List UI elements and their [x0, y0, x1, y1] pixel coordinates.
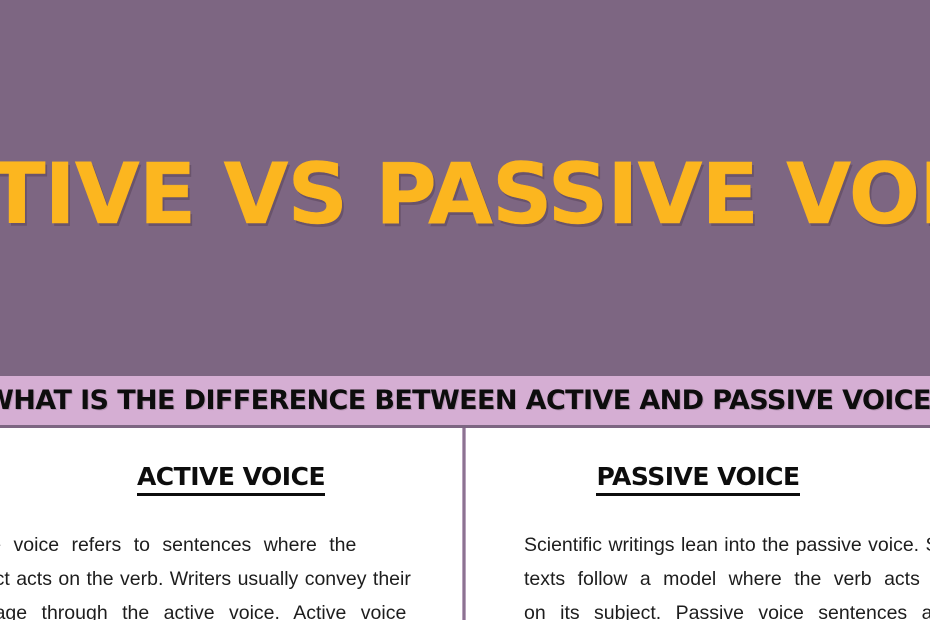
body-line: texts follow a model where the verb acts: [524, 562, 930, 596]
hero-header: ACTIVE VS PASSIVE VOICE: [0, 0, 930, 373]
body-line: subject acts on the verb. Writers usuall…: [0, 562, 462, 596]
body-line: Scientific writings lean into the passiv…: [524, 528, 930, 562]
heading-passive-voice-label: PASSIVE VOICE: [596, 462, 799, 496]
content-area: EM ACTIVE VOICE Active voice refers to s…: [0, 428, 930, 620]
body-line: Active voice refers to sentences where t…: [0, 528, 462, 562]
body-line: on its subject. Passive voice sentences …: [524, 596, 930, 620]
page-title: ACTIVE VS PASSIVE VOICE: [0, 148, 930, 240]
poster-page: ACTIVE VS PASSIVE VOICE WHAT IS THE DIFF…: [0, 0, 930, 620]
column-active-voice: ACTIVE VOICE Active voice refers to sent…: [0, 428, 462, 620]
heading-passive-voice: PASSIVE VOICE: [466, 462, 930, 492]
body-line: message through the active voice. Active…: [0, 596, 462, 620]
column-passive-voice: PASSIVE VOICE Scientific writings lean i…: [466, 428, 930, 620]
heading-active-voice: ACTIVE VOICE: [0, 462, 462, 492]
subtitle-text: WHAT IS THE DIFFERENCE BETWEEN ACTIVE AN…: [0, 386, 930, 416]
heading-active-voice-label: ACTIVE VOICE: [137, 462, 325, 496]
body-passive-voice: Scientific writings lean into the passiv…: [524, 528, 930, 620]
body-active-voice: Active voice refers to sentences where t…: [0, 528, 462, 620]
subtitle-band: WHAT IS THE DIFFERENCE BETWEEN ACTIVE AN…: [0, 373, 930, 428]
